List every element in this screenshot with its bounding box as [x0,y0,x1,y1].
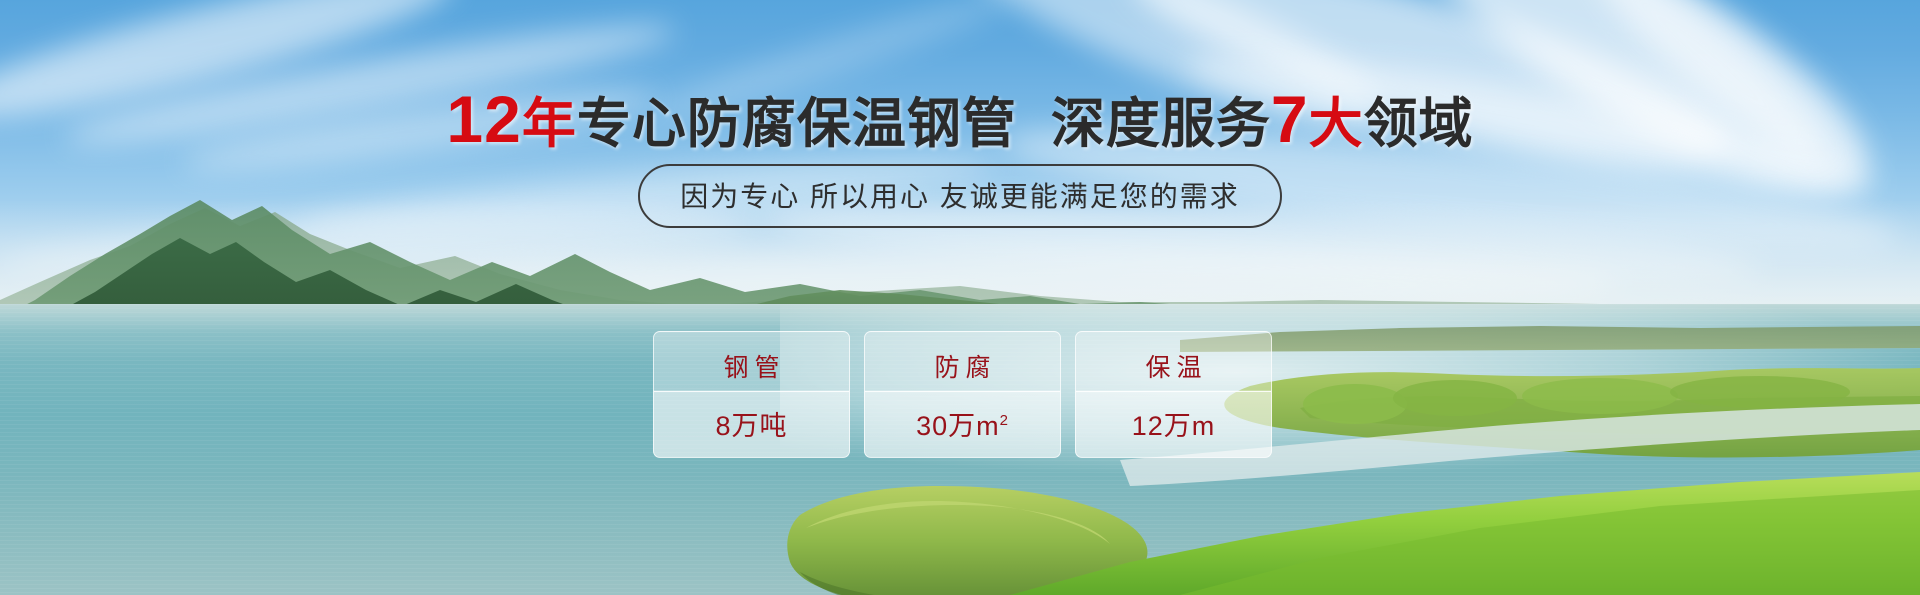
stat-card-value: 8万吨 [654,404,849,443]
subtitle-pill: 因为专心 所以用心 友诚更能满足您的需求 [638,164,1282,228]
stat-card-anticorrosion: 防腐 30万m2 [864,331,1061,458]
headline-phrase-1: 专心防腐保温钢管 [577,94,1017,154]
stat-card-title: 钢管 [654,348,849,384]
card-divider [1076,391,1271,392]
stat-card-steel-pipe: 钢管 8万吨 [653,331,850,458]
card-divider [654,391,849,392]
fields-unit: 大 [1309,94,1364,154]
stat-card-insulation: 保温 12万m [1075,331,1272,458]
years-unit: 年 [522,94,577,154]
stat-value-superscript: 2 [1000,412,1009,429]
stat-card-value: 12万m [1076,404,1271,443]
hero-banner: 12年专心防腐保温钢管深度服务7大领域 因为专心 所以用心 友诚更能满足您的需求… [0,0,1920,595]
stat-value-text: 12万m [1132,411,1216,441]
stat-value-text: 8万吨 [715,411,787,441]
fields-number: 7 [1271,82,1309,156]
stat-card-value: 30万m2 [865,404,1060,443]
headline-phrase-3: 领域 [1364,94,1474,154]
stat-card-title: 保温 [1076,348,1271,384]
stats-card-group: 钢管 8万吨 防腐 30万m2 保温 12万m [653,331,1273,458]
stat-value-text: 30万m [916,411,1000,441]
page-title: 12年专心防腐保温钢管深度服务7大领域 [0,88,1920,155]
stat-card-title: 防腐 [865,348,1060,384]
headline-phrase-2: 深度服务 [1051,94,1271,154]
subtitle-container: 因为专心 所以用心 友诚更能满足您的需求 [0,164,1920,228]
card-divider [865,391,1060,392]
years-number: 12 [446,82,521,156]
